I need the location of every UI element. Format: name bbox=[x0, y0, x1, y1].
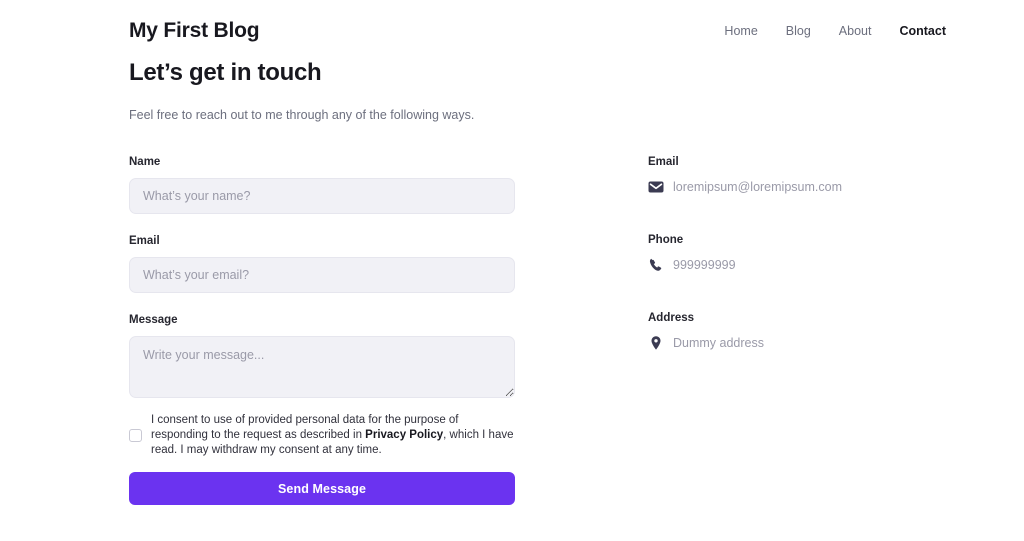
main-navigation: Home Blog About Contact bbox=[710, 24, 946, 38]
field-email: Email bbox=[129, 234, 515, 293]
email-input[interactable] bbox=[129, 257, 515, 293]
contact-address-label: Address bbox=[648, 311, 948, 326]
contact-address-row: Dummy address bbox=[648, 335, 948, 351]
contact-phone-label: Phone bbox=[648, 233, 948, 248]
consent-row: I consent to use of provided personal da… bbox=[129, 413, 515, 459]
nav-item-home[interactable]: Home bbox=[710, 24, 771, 38]
page-subtitle: Feel free to reach out to me through any… bbox=[129, 88, 729, 125]
contact-phone-value[interactable]: 999999999 bbox=[673, 257, 736, 273]
phone-icon bbox=[648, 257, 664, 273]
intro-section: Let’s get in touch Feel free to reach ou… bbox=[129, 58, 729, 125]
field-name: Name bbox=[129, 155, 515, 214]
envelope-icon bbox=[648, 179, 664, 195]
nav-item-contact[interactable]: Contact bbox=[885, 24, 946, 38]
consent-text: I consent to use of provided personal da… bbox=[151, 413, 515, 459]
field-message: Message bbox=[129, 313, 515, 398]
message-input[interactable] bbox=[129, 336, 515, 398]
contact-page: My First Blog Home Blog About Contact Le… bbox=[0, 0, 1024, 541]
email-label: Email bbox=[129, 234, 515, 249]
contact-email-value[interactable]: loremipsum@loremipsum.com bbox=[673, 179, 842, 195]
contact-phone-row: 999999999 bbox=[648, 257, 948, 273]
contact-email-row: loremipsum@loremipsum.com bbox=[648, 179, 948, 195]
contact-block-phone: Phone 999999999 bbox=[648, 233, 948, 273]
map-pin-icon bbox=[648, 335, 664, 351]
site-brand[interactable]: My First Blog bbox=[129, 18, 259, 43]
consent-checkbox[interactable] bbox=[129, 429, 142, 442]
contact-details: Email loremipsum@loremipsum.com Phone bbox=[648, 155, 948, 352]
nav-item-blog[interactable]: Blog bbox=[772, 24, 825, 38]
contact-address-value: Dummy address bbox=[673, 335, 764, 351]
name-input[interactable] bbox=[129, 178, 515, 214]
contact-block-address: Address Dummy address bbox=[648, 311, 948, 351]
page-title: Let’s get in touch bbox=[129, 58, 729, 88]
contact-email-label: Email bbox=[648, 155, 948, 170]
name-label: Name bbox=[129, 155, 515, 170]
privacy-policy-link[interactable]: Privacy Policy bbox=[365, 429, 443, 441]
site-header: My First Blog Home Blog About Contact bbox=[129, 14, 946, 48]
nav-item-about[interactable]: About bbox=[825, 24, 886, 38]
message-label: Message bbox=[129, 313, 515, 328]
send-message-button[interactable]: Send Message bbox=[129, 472, 515, 505]
contact-block-email: Email loremipsum@loremipsum.com bbox=[648, 155, 948, 195]
